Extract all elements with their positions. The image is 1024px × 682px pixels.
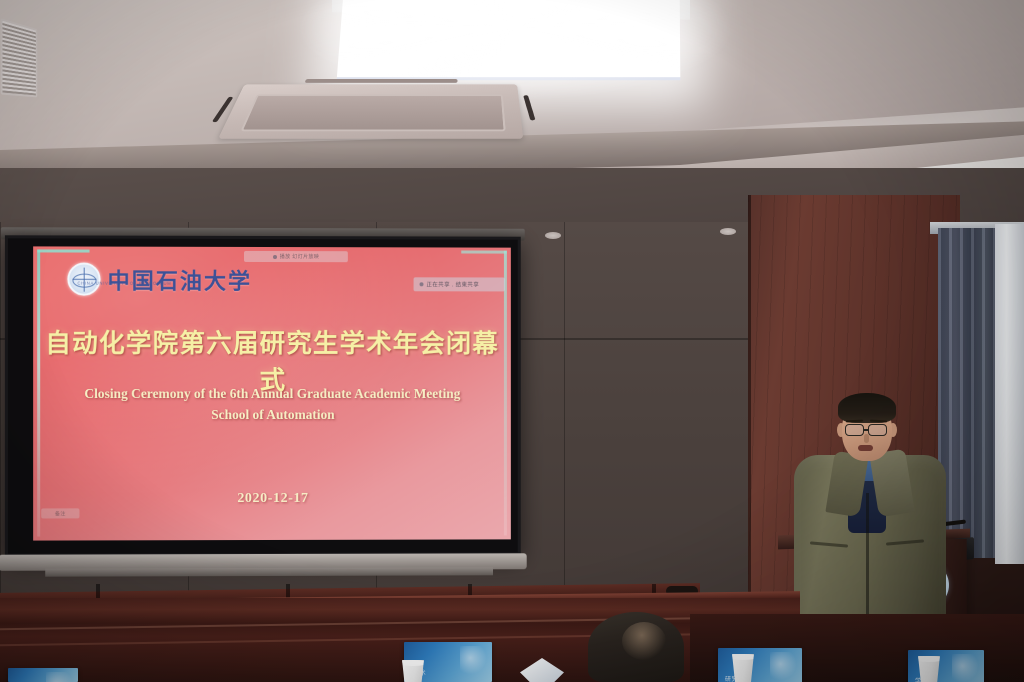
slide-subtitle-line1: Closing Ceremony of the 6th Annual Gradu…: [33, 383, 511, 405]
slide-subtitle-line2: School of Automation: [33, 404, 511, 426]
presentation-toolbar-chip[interactable]: 播放 幻灯片放映: [244, 251, 348, 262]
nameplate: [8, 668, 78, 682]
chip-top-label: 播放 幻灯片放映: [280, 253, 320, 260]
presenter-nose: [864, 434, 869, 443]
share-dot-icon: [420, 282, 424, 286]
ceiling-spot: [545, 232, 561, 239]
slide-accent-top-right: [461, 251, 507, 254]
screen-weight-bar-lower: [45, 567, 493, 576]
slide-date: 2020-12-17: [33, 491, 511, 508]
university-name-en: CHINA UNIVERSITY OF PETROLEUM: [77, 281, 171, 286]
ceiling-ac-cassette: [218, 84, 523, 138]
chip-right-label: 正在共享 . 结束共享: [426, 280, 479, 288]
university-name-cn: 中国石油大学: [108, 263, 252, 295]
presenter-mouth: [858, 445, 873, 451]
wall-vent-grille: [1, 18, 38, 97]
presentation-slide: 中国石油大学 CHINA UNIVERSITY OF PETROLEUM 播放 …: [33, 246, 511, 540]
ceiling-spot: [720, 228, 736, 235]
seated-attendee-scalp: [622, 622, 666, 660]
presenter-hair: [838, 393, 896, 423]
ac-vent-bar: [305, 79, 457, 83]
chip-bottomleft-label: 备注: [55, 510, 66, 517]
presenter-jacket-zipper: [866, 493, 869, 633]
presenter-at-podium: [786, 393, 958, 643]
projection-screen: 中国石油大学 CHINA UNIVERSITY OF PETROLEUM 播放 …: [5, 235, 521, 556]
slide-subtitle-en: Closing Ceremony of the 6th Annual Gradu…: [33, 383, 511, 426]
glasses-lens-right-icon: [868, 424, 887, 436]
window-light: [995, 224, 1024, 564]
notes-chip[interactable]: 备注: [41, 508, 79, 518]
glasses-lens-left-icon: [845, 424, 864, 436]
slide-logo: 中国石油大学: [67, 263, 252, 296]
screen-share-indicator[interactable]: 正在共享 . 结束共享: [414, 277, 505, 291]
university-seal-icon: [67, 263, 100, 296]
chip-dot-icon: [273, 255, 277, 259]
nameplate: 研究生: [718, 648, 802, 682]
slide-accent-top: [37, 249, 89, 252]
glasses-bridge-icon: [864, 429, 869, 431]
fluorescent-panel-light: [337, 0, 681, 80]
conference-room-scene: 中国石油大学 CHINA UNIVERSITY OF PETROLEUM 播放 …: [0, 0, 1024, 682]
ac-grille: [240, 94, 505, 131]
